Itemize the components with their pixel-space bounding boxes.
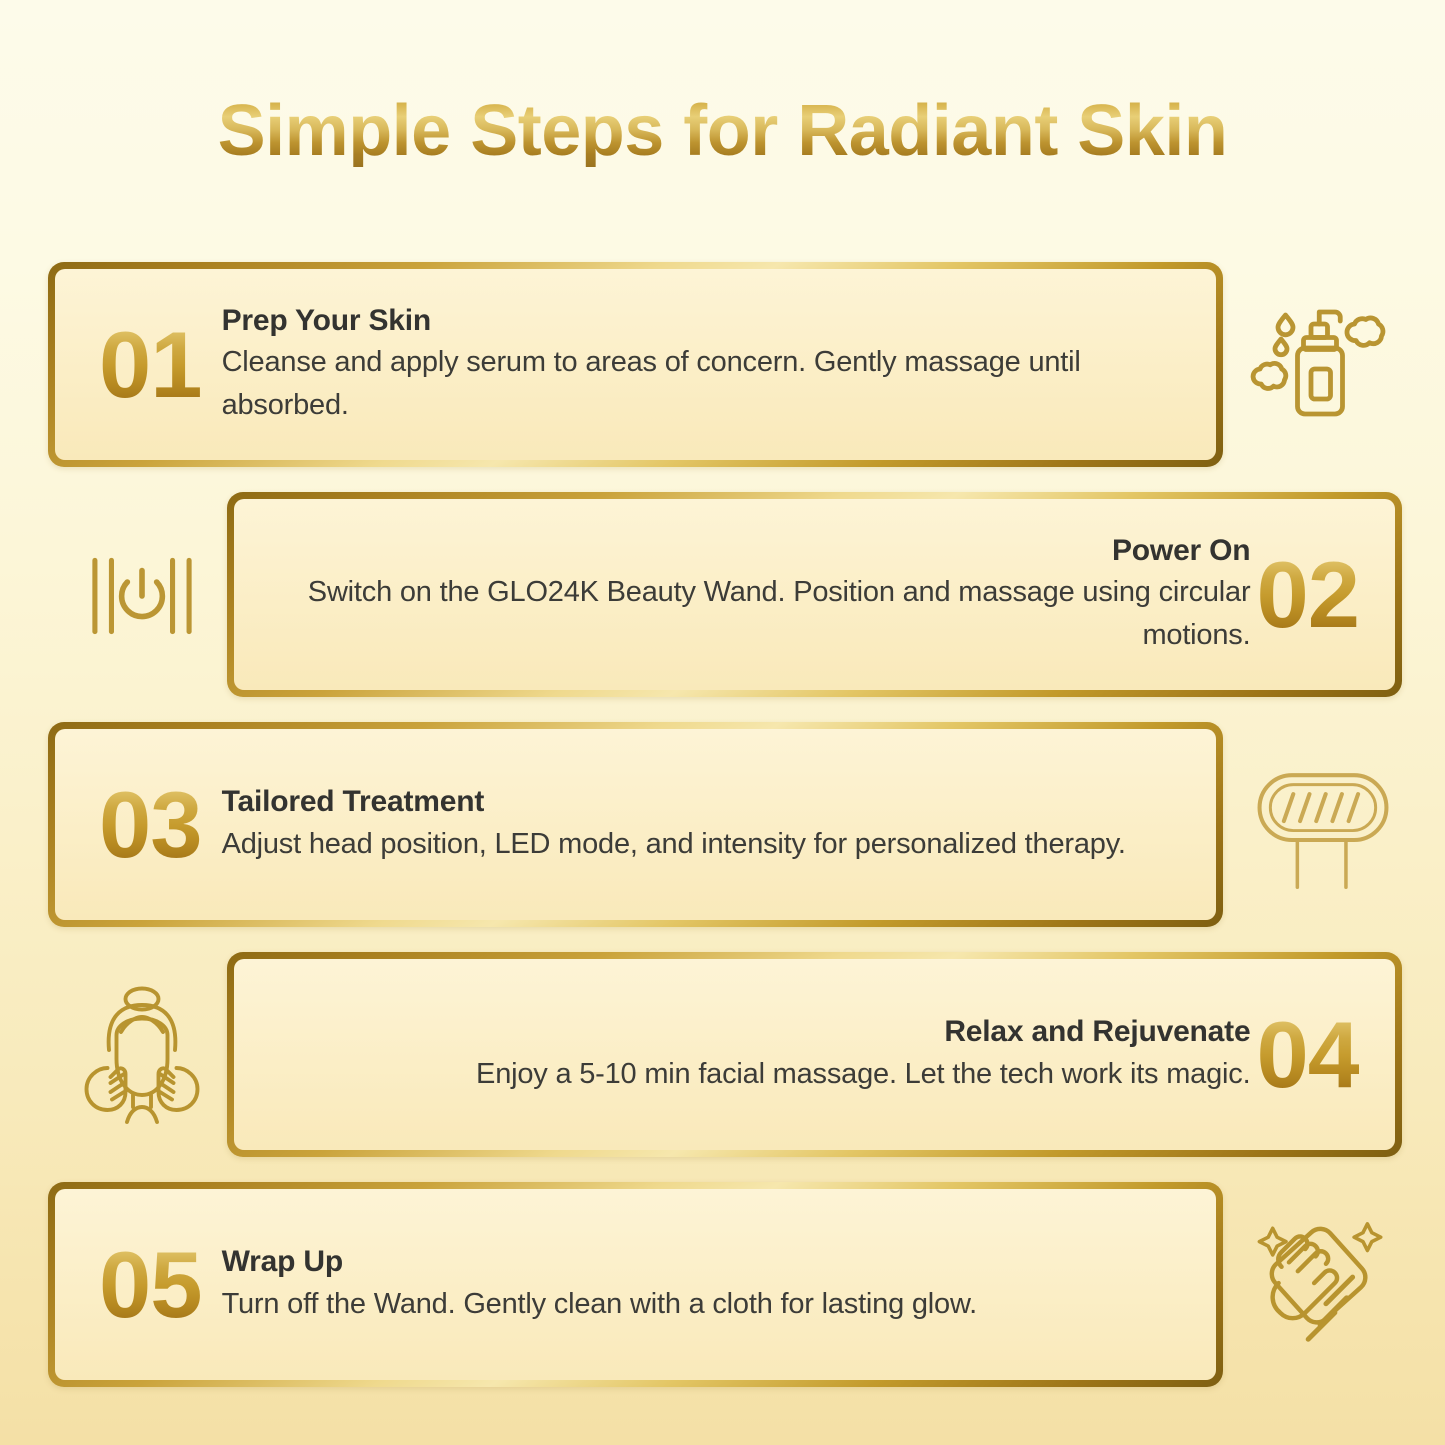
step-card-inner: Power On Switch on the GLO24K Beauty Wan… xyxy=(234,499,1395,690)
step-title: Prep Your Skin xyxy=(222,303,1192,340)
step-text: Relax and Rejuvenate Enjoy a 5-10 min fa… xyxy=(234,1014,1250,1095)
step-number: 02 xyxy=(1256,548,1359,642)
step-card-05[interactable]: 05 Wrap Up Turn off the Wand. Gently cle… xyxy=(48,1182,1223,1387)
step-number: 01 xyxy=(99,318,202,412)
step-description: Turn off the Wand. Gently clean with a c… xyxy=(222,1283,1192,1325)
face-massage-icon xyxy=(62,976,222,1136)
step-text: Wrap Up Turn off the Wand. Gently clean … xyxy=(208,1244,1216,1325)
pump-bottle-icon xyxy=(1243,286,1403,446)
step-card-inner: Relax and Rejuvenate Enjoy a 5-10 min fa… xyxy=(234,959,1395,1150)
step-number: 03 xyxy=(99,778,202,872)
step-title: Power On xyxy=(258,533,1250,570)
step-row: 03 Tailored Treatment Adjust head positi… xyxy=(0,722,1445,930)
step-card-inner: 01 Prep Your Skin Cleanse and apply seru… xyxy=(55,269,1216,460)
step-description: Cleanse and apply serum to areas of conc… xyxy=(222,341,1192,426)
wipe-cloth-icon xyxy=(1243,1206,1403,1366)
step-number: 05 xyxy=(99,1238,202,1332)
page-title: Simple Steps for Radiant Skin xyxy=(0,95,1445,167)
led-panel-icon xyxy=(1243,746,1403,906)
step-card-02[interactable]: Power On Switch on the GLO24K Beauty Wan… xyxy=(227,492,1402,697)
step-card-inner: 05 Wrap Up Turn off the Wand. Gently cle… xyxy=(55,1189,1216,1380)
step-text: Power On Switch on the GLO24K Beauty Wan… xyxy=(234,533,1250,656)
step-card-01[interactable]: 01 Prep Your Skin Cleanse and apply seru… xyxy=(48,262,1223,467)
step-title: Relax and Rejuvenate xyxy=(258,1014,1250,1051)
step-row: Relax and Rejuvenate Enjoy a 5-10 min fa… xyxy=(0,952,1445,1160)
step-title: Wrap Up xyxy=(222,1244,1192,1281)
step-description: Adjust head position, LED mode, and inte… xyxy=(222,823,1192,865)
power-button-icon xyxy=(62,516,222,676)
step-row: Power On Switch on the GLO24K Beauty Wan… xyxy=(0,492,1445,700)
step-card-inner: 03 Tailored Treatment Adjust head positi… xyxy=(55,729,1216,920)
step-text: Prep Your Skin Cleanse and apply serum t… xyxy=(208,303,1216,426)
step-card-03[interactable]: 03 Tailored Treatment Adjust head positi… xyxy=(48,722,1223,927)
steps-list: 01 Prep Your Skin Cleanse and apply seru… xyxy=(0,262,1445,1390)
step-description: Switch on the GLO24K Beauty Wand. Positi… xyxy=(258,571,1250,656)
step-number: 04 xyxy=(1256,1008,1359,1102)
step-title: Tailored Treatment xyxy=(222,784,1192,821)
step-text: Tailored Treatment Adjust head position,… xyxy=(208,784,1216,865)
step-card-04[interactable]: Relax and Rejuvenate Enjoy a 5-10 min fa… xyxy=(227,952,1402,1157)
step-row: 05 Wrap Up Turn off the Wand. Gently cle… xyxy=(0,1182,1445,1390)
step-description: Enjoy a 5-10 min facial massage. Let the… xyxy=(258,1053,1250,1095)
step-row: 01 Prep Your Skin Cleanse and apply seru… xyxy=(0,262,1445,470)
